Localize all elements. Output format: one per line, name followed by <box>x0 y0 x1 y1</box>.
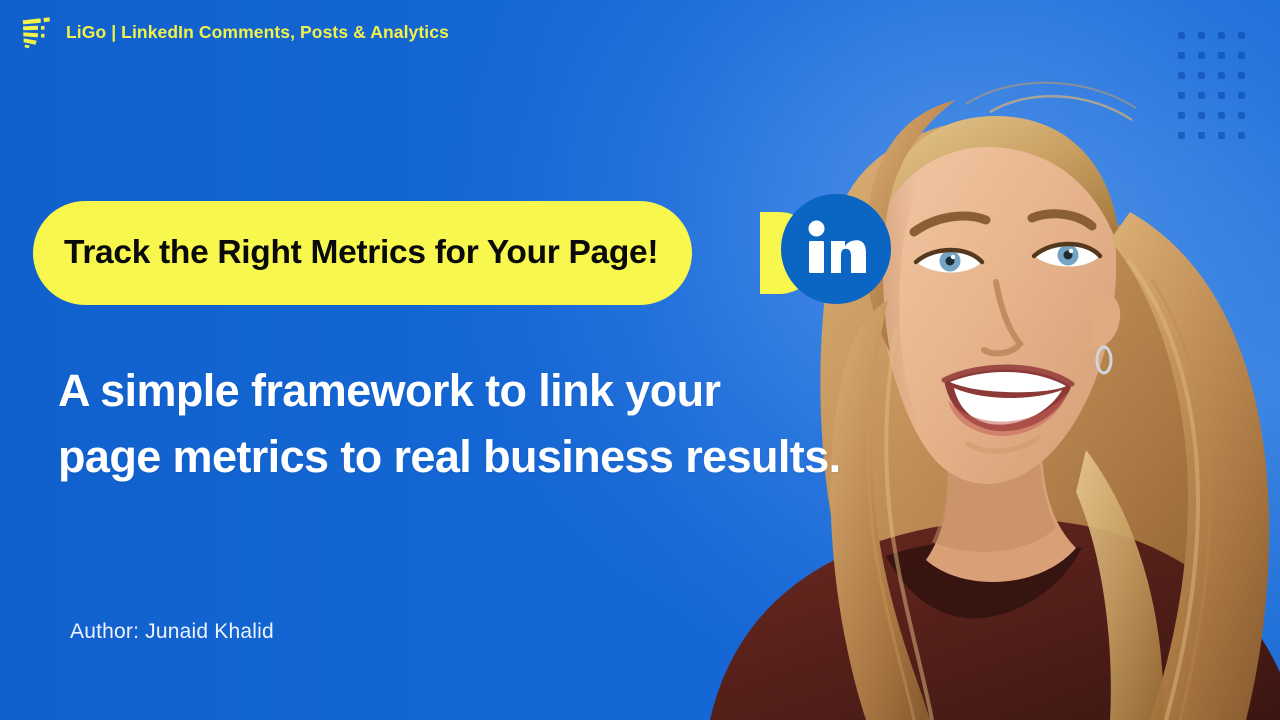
page-title: Track the Right Metrics for Your Page! <box>64 236 658 270</box>
grid-dot <box>1238 112 1245 119</box>
grid-dot <box>1218 72 1225 79</box>
grid-dot <box>1178 72 1185 79</box>
grid-dot <box>1198 132 1205 139</box>
subtitle-line-1: A simple framework to link your <box>58 358 858 424</box>
grid-dot <box>1198 92 1205 99</box>
grid-dot <box>1218 92 1225 99</box>
grid-dot <box>1178 132 1185 139</box>
grid-dot <box>1198 52 1205 59</box>
grid-dot <box>1198 32 1205 39</box>
brand-header: LiGo | LinkedIn Comments, Posts & Analyt… <box>18 14 449 50</box>
brand-name-label: LiGo | LinkedIn Comments, Posts & Analyt… <box>66 22 449 43</box>
grid-dot <box>1178 92 1185 99</box>
grid-dot <box>1218 112 1225 119</box>
subtitle-line-2: page metrics to real business results. <box>58 424 858 490</box>
social-card-canvas: LiGo | LinkedIn Comments, Posts & Analyt… <box>0 0 1280 720</box>
author-label: Author: Junaid Khalid <box>70 620 274 644</box>
grid-dot <box>1178 32 1185 39</box>
grid-dot <box>1238 32 1245 39</box>
grid-dot <box>1218 32 1225 39</box>
grid-dot <box>1218 132 1225 139</box>
grid-dot <box>1238 92 1245 99</box>
title-pill: Track the Right Metrics for Your Page! <box>33 201 692 305</box>
grid-dot <box>1238 52 1245 59</box>
subtitle: A simple framework to link your page met… <box>58 358 858 490</box>
linkedin-icon <box>781 194 891 304</box>
grid-dot <box>1198 112 1205 119</box>
grid-dot <box>1178 52 1185 59</box>
grid-dot <box>1198 72 1205 79</box>
ligo-fan-logo-icon <box>18 14 54 50</box>
grid-dot <box>1178 112 1185 119</box>
dot-grid-icon <box>1178 32 1270 144</box>
grid-dot <box>1238 72 1245 79</box>
grid-dot <box>1238 132 1245 139</box>
grid-dot <box>1218 52 1225 59</box>
